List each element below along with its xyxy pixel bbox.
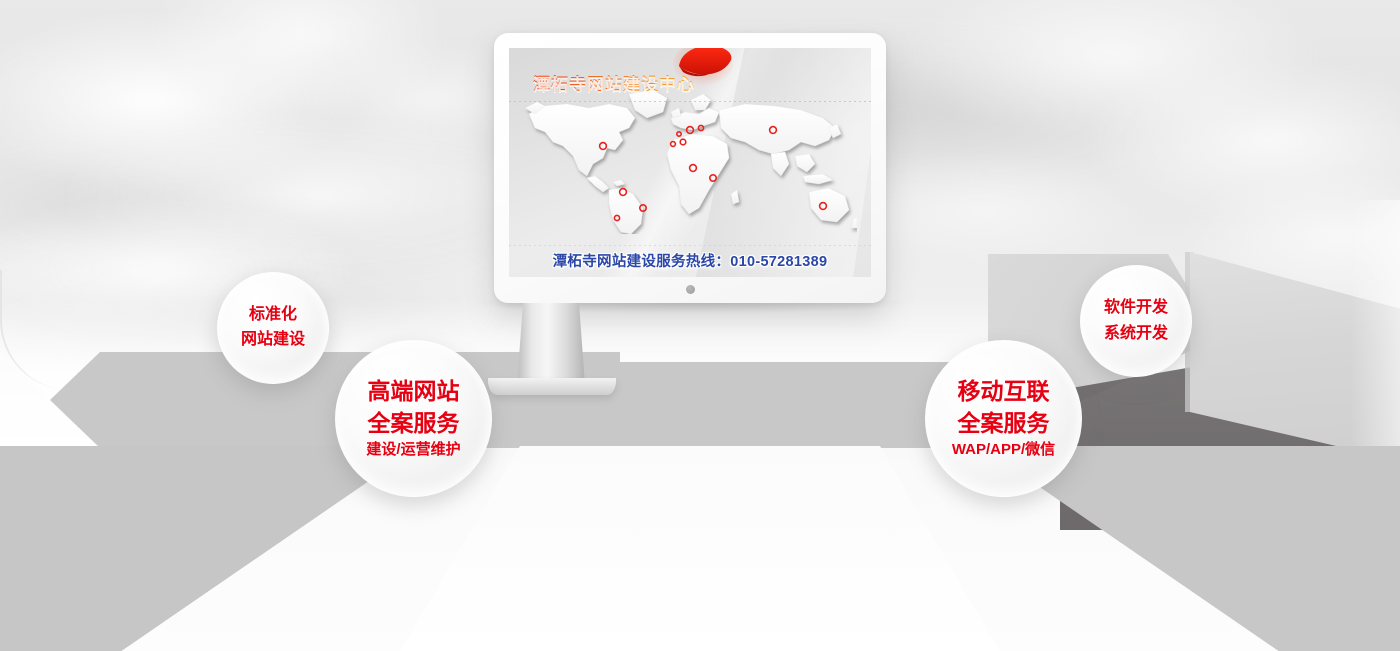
map-markers — [523, 84, 857, 234]
bubble-subline: 建设/运营维护 — [366, 440, 460, 461]
banner-stage: 潭柘寺网站建设中心 潭柘寺网站建设服务热线：010-57281389 标准化 网… — [0, 0, 1400, 651]
screen-divider-line — [509, 245, 871, 246]
bubble-software[interactable]: 软件开发 系统开发 — [1080, 265, 1192, 377]
bubble-line: 系统开发 — [1104, 321, 1168, 347]
screen-divider-line — [509, 101, 871, 102]
monitor: 潭柘寺网站建设中心 潭柘寺网站建设服务热线：010-57281389 — [494, 33, 886, 303]
screen-title: 潭柘寺网站建设中心 — [533, 70, 695, 95]
bubble-subline: WAP/APP/微信 — [952, 440, 1055, 461]
bubble-line: 全案服务 — [368, 408, 460, 440]
bubble-line: 软件开发 — [1104, 295, 1168, 321]
bubble-line: 高端网站 — [368, 376, 460, 408]
floor-walkway — [400, 446, 1000, 651]
monitor-screen[interactable]: 潭柘寺网站建设中心 潭柘寺网站建设服务热线：010-57281389 — [509, 48, 871, 277]
monitor-logo-dot — [686, 285, 695, 294]
hotline-text: 潭柘寺网站建设服务热线：010-57281389 — [509, 250, 871, 271]
monitor-stand-neck — [517, 303, 585, 385]
bubble-line: 网站建设 — [241, 328, 305, 353]
bubble-mobile[interactable]: 移动互联 全案服务 WAP/APP/微信 — [925, 340, 1082, 497]
bubble-line: 全案服务 — [958, 408, 1050, 440]
monitor-stand-base — [488, 378, 616, 395]
floor-panel-center — [585, 362, 985, 448]
bubble-line: 移动互联 — [958, 376, 1050, 408]
bubble-high-end[interactable]: 高端网站 全案服务 建设/运营维护 — [335, 340, 492, 497]
bubble-standard[interactable]: 标准化 网站建设 — [217, 272, 329, 384]
bubble-line: 标准化 — [249, 303, 297, 328]
